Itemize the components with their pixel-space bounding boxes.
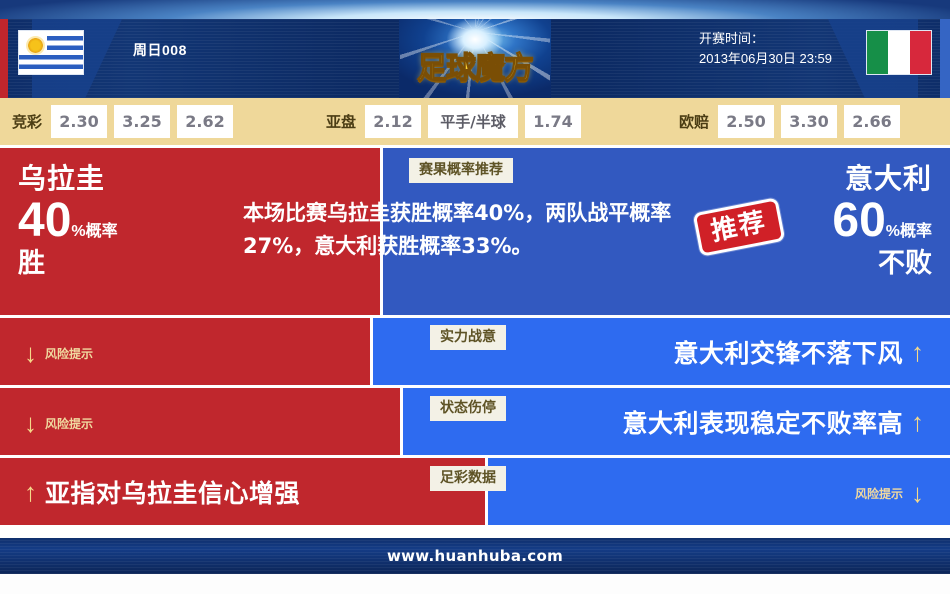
odds-label-yapan: 亚盘	[326, 111, 356, 132]
factor-row-2-badge: 状态伤停	[430, 396, 506, 421]
away-probability-suffix: %概率	[886, 223, 932, 240]
odds-cell-jingcai-3[interactable]: 2.62	[177, 105, 233, 138]
uruguay-sun-icon	[28, 38, 43, 53]
kickoff-value: 2013年06月30日 23:59	[699, 49, 832, 69]
home-probability-block: 乌拉圭 40%概率 胜	[18, 162, 118, 280]
probability-badge: 赛果概率推荐	[409, 158, 513, 183]
factor-row-1-left-item: ↓ 风险提示	[24, 340, 93, 366]
kickoff-block: 开赛时间： 2013年06月30日 23:59	[699, 29, 832, 69]
italy-green-band	[867, 31, 888, 74]
odds-group-oupei: 欧赔 2.50 3.30 2.66	[679, 105, 907, 138]
italy-red-band	[910, 31, 931, 74]
odds-cell-yapan-2[interactable]: 1.74	[525, 105, 581, 138]
factor-row-3-left-text: 亚指对乌拉圭信心增强	[45, 474, 300, 510]
factor-row-1-badge: 实力战意	[430, 325, 506, 350]
down-arrow-icon: ↓	[24, 410, 37, 436]
odds-label-jingcai: 竞彩	[12, 111, 42, 132]
odds-cell-jingcai-2[interactable]: 3.25	[114, 105, 170, 138]
factor-rows: ↓ 风险提示 意大利交锋不落下风 ↑ ↓ 风险提示 意大利表现稳定不败率高 ↑	[0, 318, 950, 538]
down-arrow-icon: ↓	[911, 480, 924, 506]
factor-row-2-right-text: 意大利表现稳定不败率高	[622, 404, 903, 440]
factor-row-2-right-item: 意大利表现稳定不败率高 ↑	[622, 404, 924, 440]
italy-flag-icon	[866, 30, 932, 75]
kickoff-label: 开赛时间：	[699, 29, 832, 49]
site-logo[interactable]: 足球魔方	[399, 19, 551, 98]
away-team-name: 意大利	[832, 162, 932, 196]
away-probability-block: 意大利 60%概率 不败	[832, 162, 932, 280]
odds-bar: 竞彩 2.30 3.25 2.62 亚盘 2.12 平手/半球 1.74 欧赔 …	[0, 98, 950, 145]
match-preview-graphic: 周日008 足球魔方 开赛时间： 2013年06月30日 23:59 竞彩 2.…	[0, 0, 950, 594]
factor-row-3-right-item: 风险提示 ↓	[855, 480, 924, 506]
footer-url[interactable]: www.huanhuba.com	[387, 547, 563, 565]
match-number: 周日008	[133, 40, 187, 60]
factor-row-3-badge: 足彩数据	[430, 466, 506, 491]
factor-row-2-left-item: ↓ 风险提示	[24, 410, 93, 436]
up-arrow-icon: ↑	[911, 409, 924, 435]
probability-description: 本场比赛乌拉圭获胜概率40%，两队战平概率27%，意大利获胜概率33%。	[243, 197, 675, 263]
factor-row-3-left-item: ↑ 亚指对乌拉圭信心增强	[24, 474, 300, 510]
up-arrow-icon: ↑	[24, 479, 37, 505]
home-probability-suffix: %概率	[71, 223, 117, 240]
away-probability-value: 60	[832, 194, 885, 247]
logo-text: 足球魔方	[399, 43, 551, 87]
factor-row-1-right-item: 意大利交锋不落下风 ↑	[673, 334, 924, 370]
odds-cell-oupei-2[interactable]: 3.30	[781, 105, 837, 138]
down-arrow-icon: ↓	[24, 340, 37, 366]
right-blue-edge	[940, 19, 950, 98]
header-bar: 周日008 足球魔方 开赛时间： 2013年06月30日 23:59	[0, 0, 950, 98]
factor-row-1-left-text: 风险提示	[45, 345, 93, 362]
odds-cell-yapan-1[interactable]: 2.12	[365, 105, 421, 138]
footer-bar: www.huanhuba.com	[0, 538, 950, 574]
odds-group-yapan: 亚盘 2.12 平手/半球 1.74	[326, 105, 588, 138]
bottom-white-strip	[0, 574, 950, 594]
left-red-edge	[0, 19, 8, 98]
odds-cell-oupei-3[interactable]: 2.66	[844, 105, 900, 138]
odds-cell-jingcai-1[interactable]: 2.30	[51, 105, 107, 138]
home-team-name: 乌拉圭	[18, 162, 118, 196]
factor-row-3-right-text: 风险提示	[855, 485, 903, 502]
factor-row-2-left-text: 风险提示	[45, 415, 93, 432]
home-probability-result: 胜	[18, 246, 118, 280]
factor-row-1-right-text: 意大利交锋不落下风	[673, 334, 903, 370]
home-probability-value: 40	[18, 194, 71, 247]
away-probability-result: 不败	[832, 246, 932, 280]
recommend-stamp-text: 推荐	[708, 206, 769, 246]
odds-cell-yapan-handicap[interactable]: 平手/半球	[428, 105, 518, 138]
uruguay-flag-icon	[18, 30, 84, 75]
header-top-glow	[0, 0, 950, 19]
italy-white-band	[888, 31, 909, 74]
odds-group-jingcai: 竞彩 2.30 3.25 2.62	[12, 105, 240, 138]
odds-label-oupei: 欧赔	[679, 111, 709, 132]
up-arrow-icon: ↑	[911, 339, 924, 365]
odds-cell-oupei-1[interactable]: 2.50	[718, 105, 774, 138]
